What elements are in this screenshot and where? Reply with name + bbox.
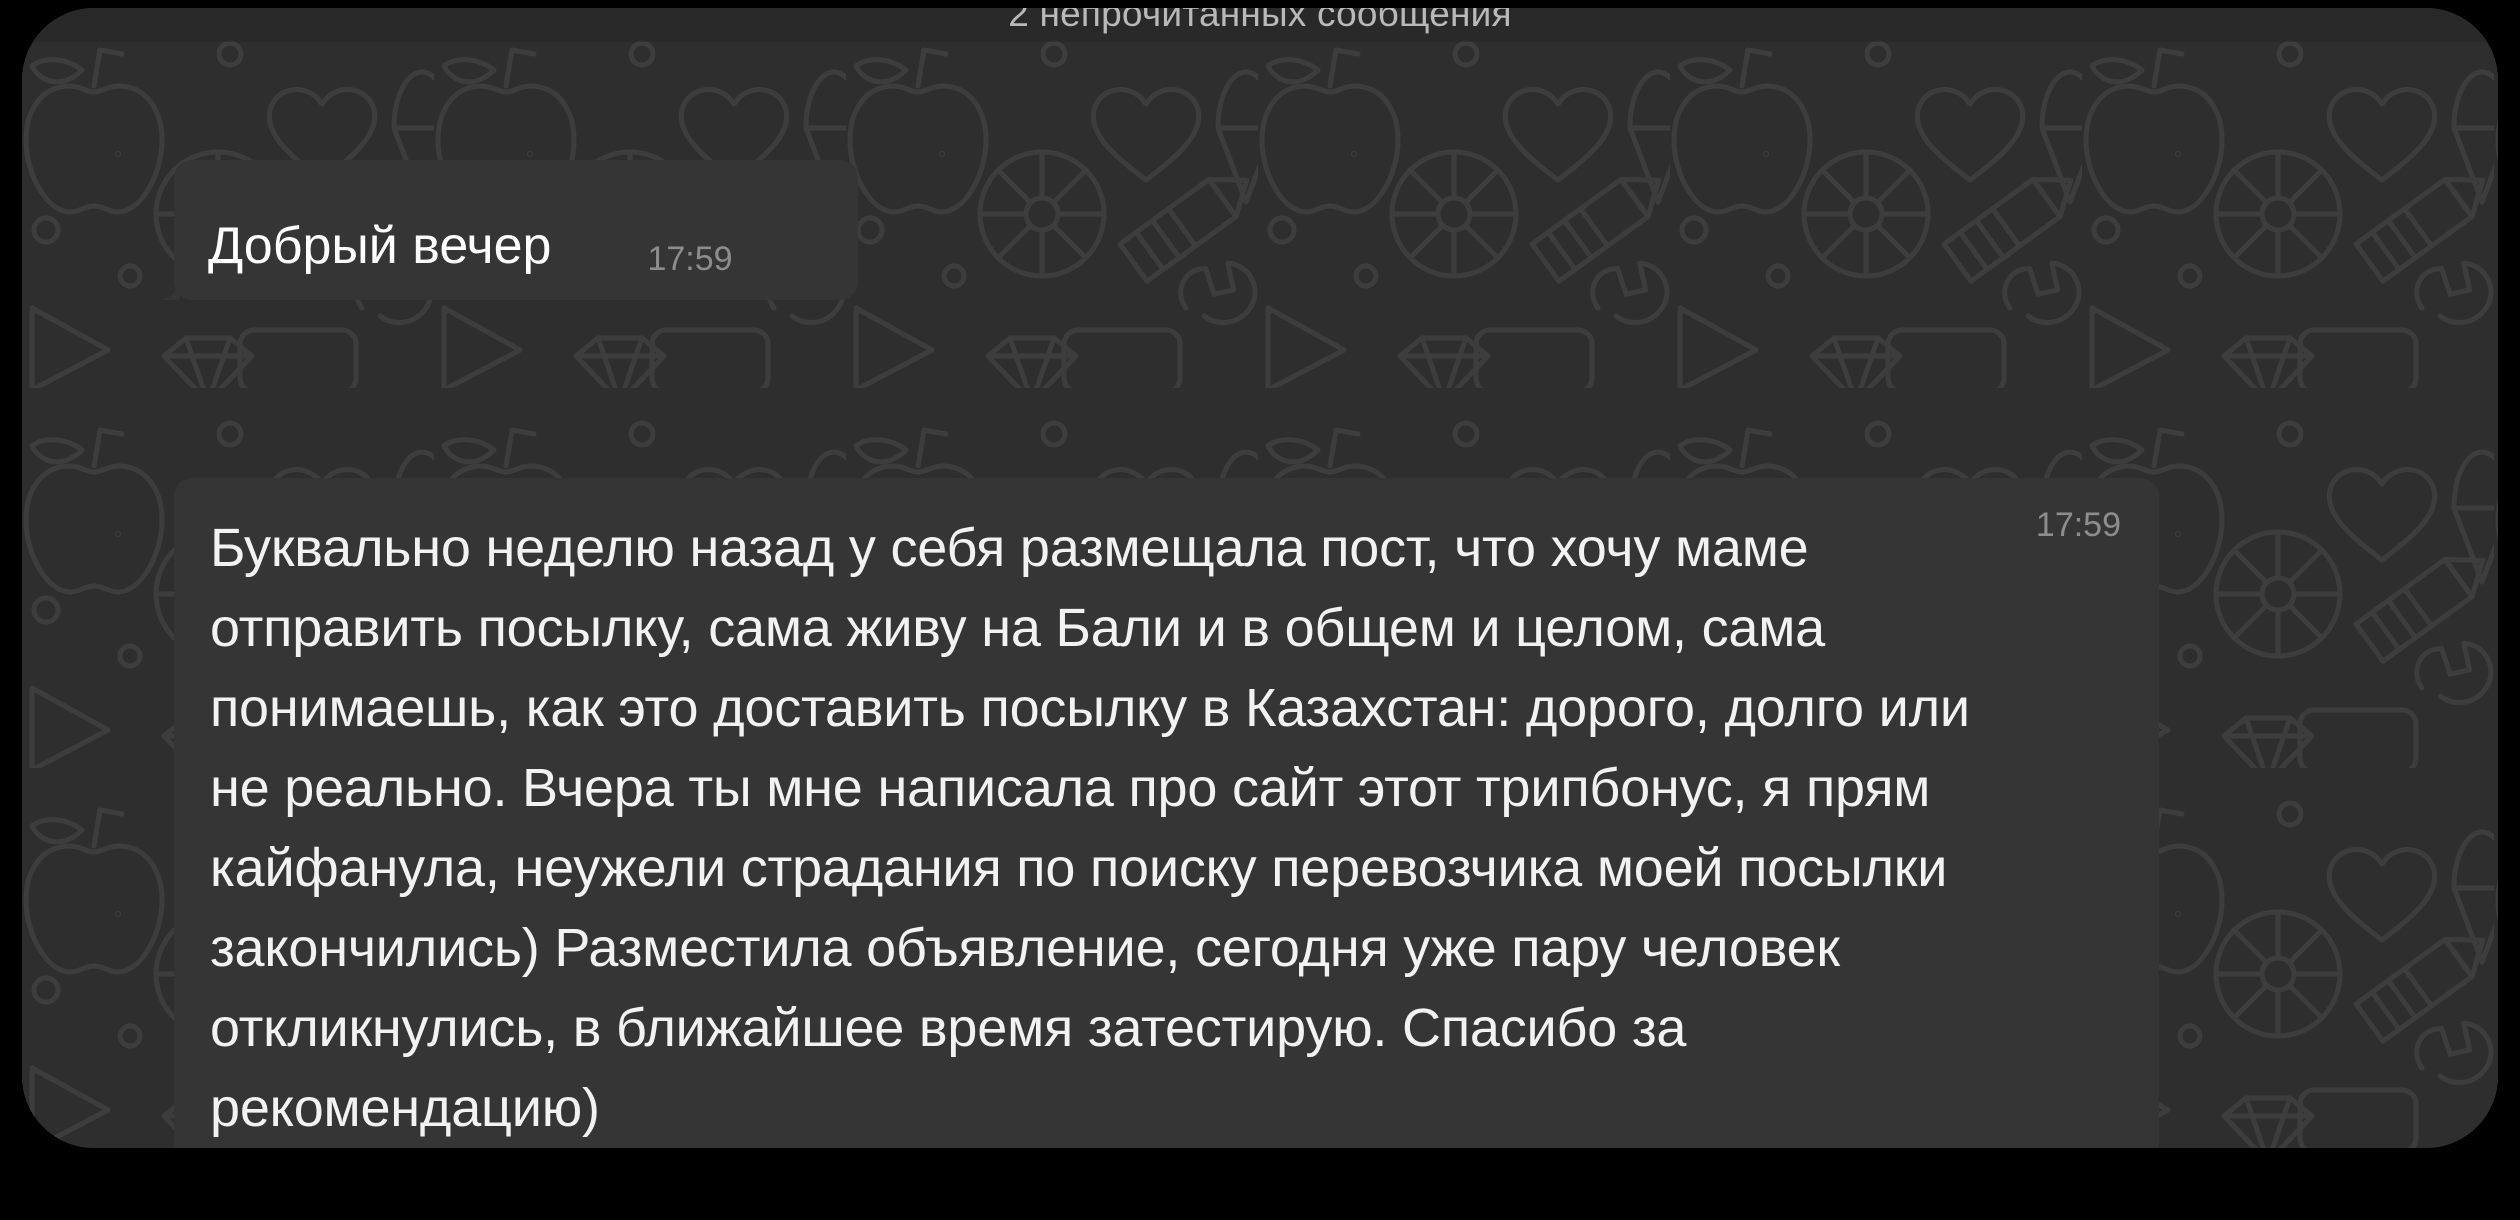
message-text: Добрый вечер bbox=[208, 214, 551, 278]
screenshot-frame: 2 непрочитанных сообщения Добрый вечер 1… bbox=[0, 0, 2520, 1220]
unread-messages-divider: 2 непрочитанных сообщения bbox=[22, 8, 2498, 42]
chat-viewport: 2 непрочитанных сообщения Добрый вечер 1… bbox=[22, 8, 2498, 1148]
message-text: Буквально неделю назад у себя размещала … bbox=[210, 508, 2036, 1148]
message-timestamp: 17:59 bbox=[647, 242, 732, 276]
message-list: Добрый вечер 17:59 Буквально неделю наза… bbox=[22, 8, 2498, 1148]
message-bubble-story[interactable]: Буквально неделю назад у себя размещала … bbox=[174, 478, 2159, 1148]
message-bubble-greeting[interactable]: Добрый вечер 17:59 bbox=[174, 160, 858, 300]
message-bubble-content: Добрый вечер 17:59 bbox=[208, 186, 733, 278]
unread-messages-label: 2 непрочитанных сообщения bbox=[1008, 8, 1512, 35]
message-footer: 17:59 bbox=[2036, 502, 2121, 1148]
message-timestamp: 17:59 bbox=[2036, 502, 2121, 1148]
